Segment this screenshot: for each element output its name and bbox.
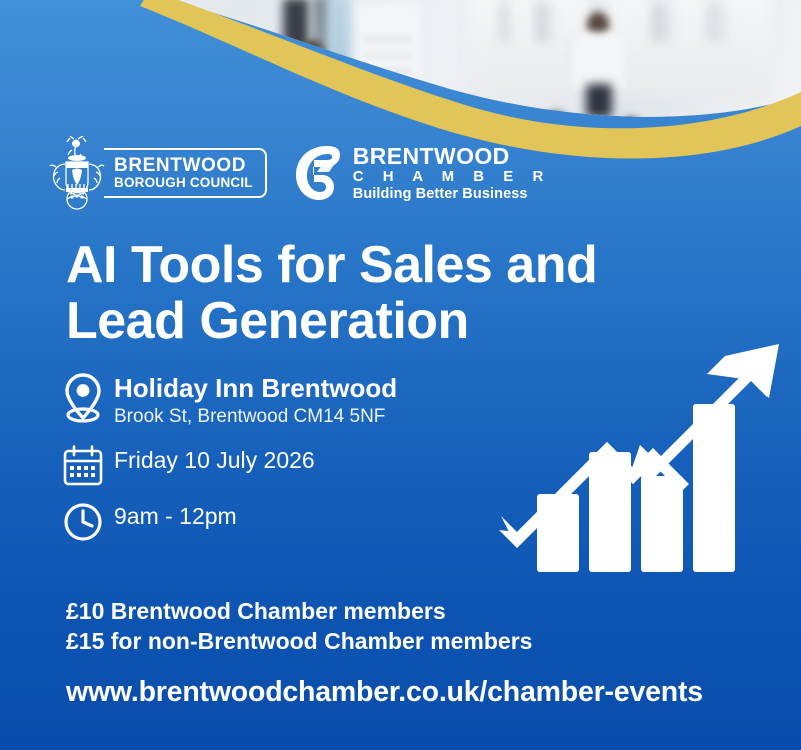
brentwood-coat-of-arms-icon <box>48 136 106 210</box>
non-member-price: £15 for non-Brentwood Chamber members <box>66 626 532 656</box>
event-url[interactable]: www.brentwoodchamber.co.uk/chamber-event… <box>66 676 703 709</box>
time-row: 9am - 12pm <box>62 501 492 543</box>
brentwood-borough-council-logo: BRENTWOOD BOROUGH COUNCIL <box>48 136 267 210</box>
event-poster: BRENTWOOD BOROUGH COUNCIL BRENTWOOD C H … <box>0 0 801 750</box>
event-time: 9am - 12pm <box>114 503 237 531</box>
chamber-subname: C H A M B E R <box>353 169 551 184</box>
pricing-block: £10 Brentwood Chamber members £15 for no… <box>66 596 532 657</box>
venue-row: Holiday Inn Brentwood Brook St, Brentwoo… <box>62 372 492 429</box>
council-name-line2: BOROUGH COUNCIL <box>114 176 253 191</box>
brentwood-chamber-logo: BRENTWOOD C H A M B E R Building Better … <box>293 144 551 202</box>
logo-row: BRENTWOOD BOROUGH COUNCIL BRENTWOOD C H … <box>48 136 551 210</box>
chamber-name: BRENTWOOD <box>353 145 551 168</box>
council-wordmark: BRENTWOOD BOROUGH COUNCIL <box>104 148 267 199</box>
council-name-line1: BRENTWOOD <box>114 156 253 176</box>
calendar-icon <box>62 445 104 487</box>
event-details: Holiday Inn Brentwood Brook St, Brentwoo… <box>62 372 492 559</box>
clock-icon <box>62 501 104 543</box>
venue-name: Holiday Inn Brentwood <box>114 374 397 403</box>
location-pin-icon <box>62 372 104 424</box>
event-date: Friday 10 July 2026 <box>114 447 315 475</box>
chamber-tagline: Building Better Business <box>353 187 551 202</box>
venue-address: Brook St, Brentwood CM14 5NF <box>114 406 397 429</box>
growth-chart-arrow-icon <box>493 334 783 582</box>
date-row: Friday 10 July 2026 <box>62 445 492 487</box>
event-title: AI Tools for Sales and Lead Generation <box>66 238 726 349</box>
chamber-b-monogram-icon <box>293 144 347 202</box>
member-price: £10 Brentwood Chamber members <box>66 596 532 626</box>
